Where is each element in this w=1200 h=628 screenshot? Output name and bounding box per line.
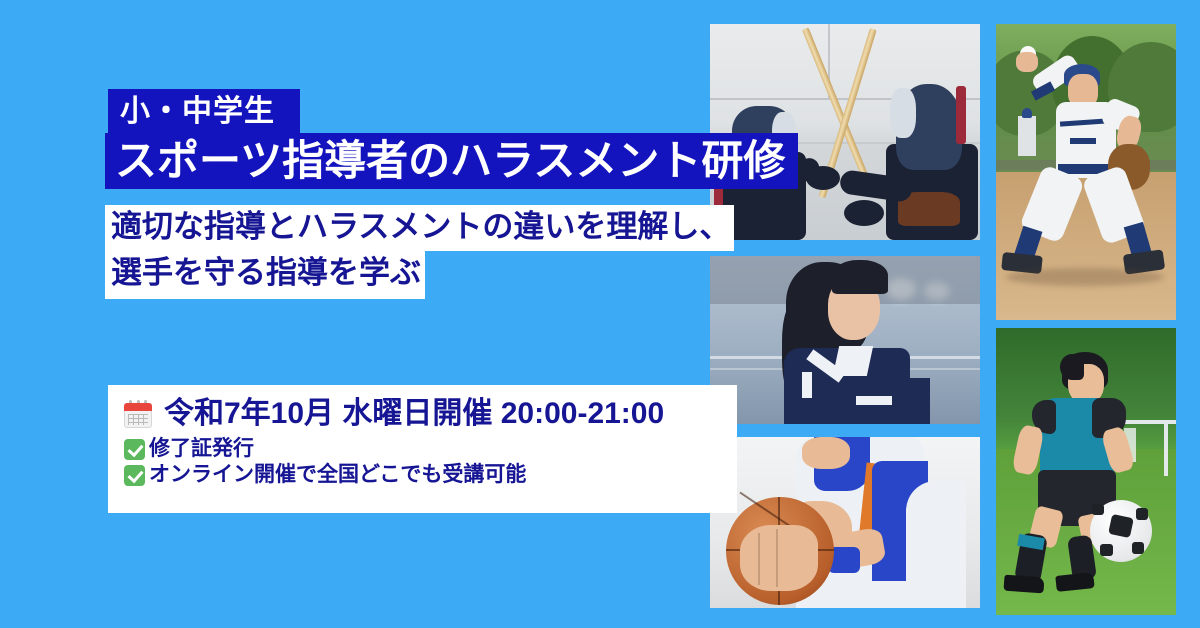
kicker-banner: 小・中学生	[108, 89, 300, 134]
event-date-text: 令和7年10月 水曜日開催 20:00-21:00	[164, 399, 664, 429]
event-date-row: 令和7年10月 水曜日開催 20:00-21:00	[124, 399, 737, 429]
photo-soccer	[996, 328, 1176, 615]
photo-volleyball	[710, 256, 980, 424]
info-bullet-label-1: 修了証発行	[149, 437, 254, 461]
poster-canvas: 小・中学生 スポーツ指導者のハラスメント研修 適切な指導とハラスメントの違いを理…	[0, 0, 1200, 628]
subtitle-line-1: 適切な指導とハラスメントの違いを理解し、	[105, 205, 734, 251]
photo-kendo	[710, 24, 980, 240]
info-bullet-label-2: オンライン開催で全国どこでも受講可能	[149, 463, 526, 487]
photo-basketball	[710, 437, 980, 608]
info-bullet-1: 修了証発行	[124, 437, 737, 461]
info-card: 令和7年10月 水曜日開催 20:00-21:00 修了証発行 オンライン開催で…	[108, 385, 737, 513]
subtitle-line-2: 選手を守る指導を学ぶ	[105, 251, 425, 299]
check-mark-icon	[124, 465, 145, 486]
title-banner: スポーツ指導者のハラスメント研修	[105, 133, 798, 189]
subtitle-block: 適切な指導とハラスメントの違いを理解し、 選手を守る指導を学ぶ	[105, 205, 734, 299]
page-title: スポーツ指導者のハラスメント研修	[115, 140, 785, 182]
info-bullet-2: オンライン開催で全国どこでも受講可能	[124, 463, 737, 487]
check-mark-icon	[124, 439, 145, 460]
kicker-text: 小・中学生	[120, 97, 275, 127]
calendar-icon	[124, 400, 152, 428]
photo-baseball	[996, 24, 1176, 320]
